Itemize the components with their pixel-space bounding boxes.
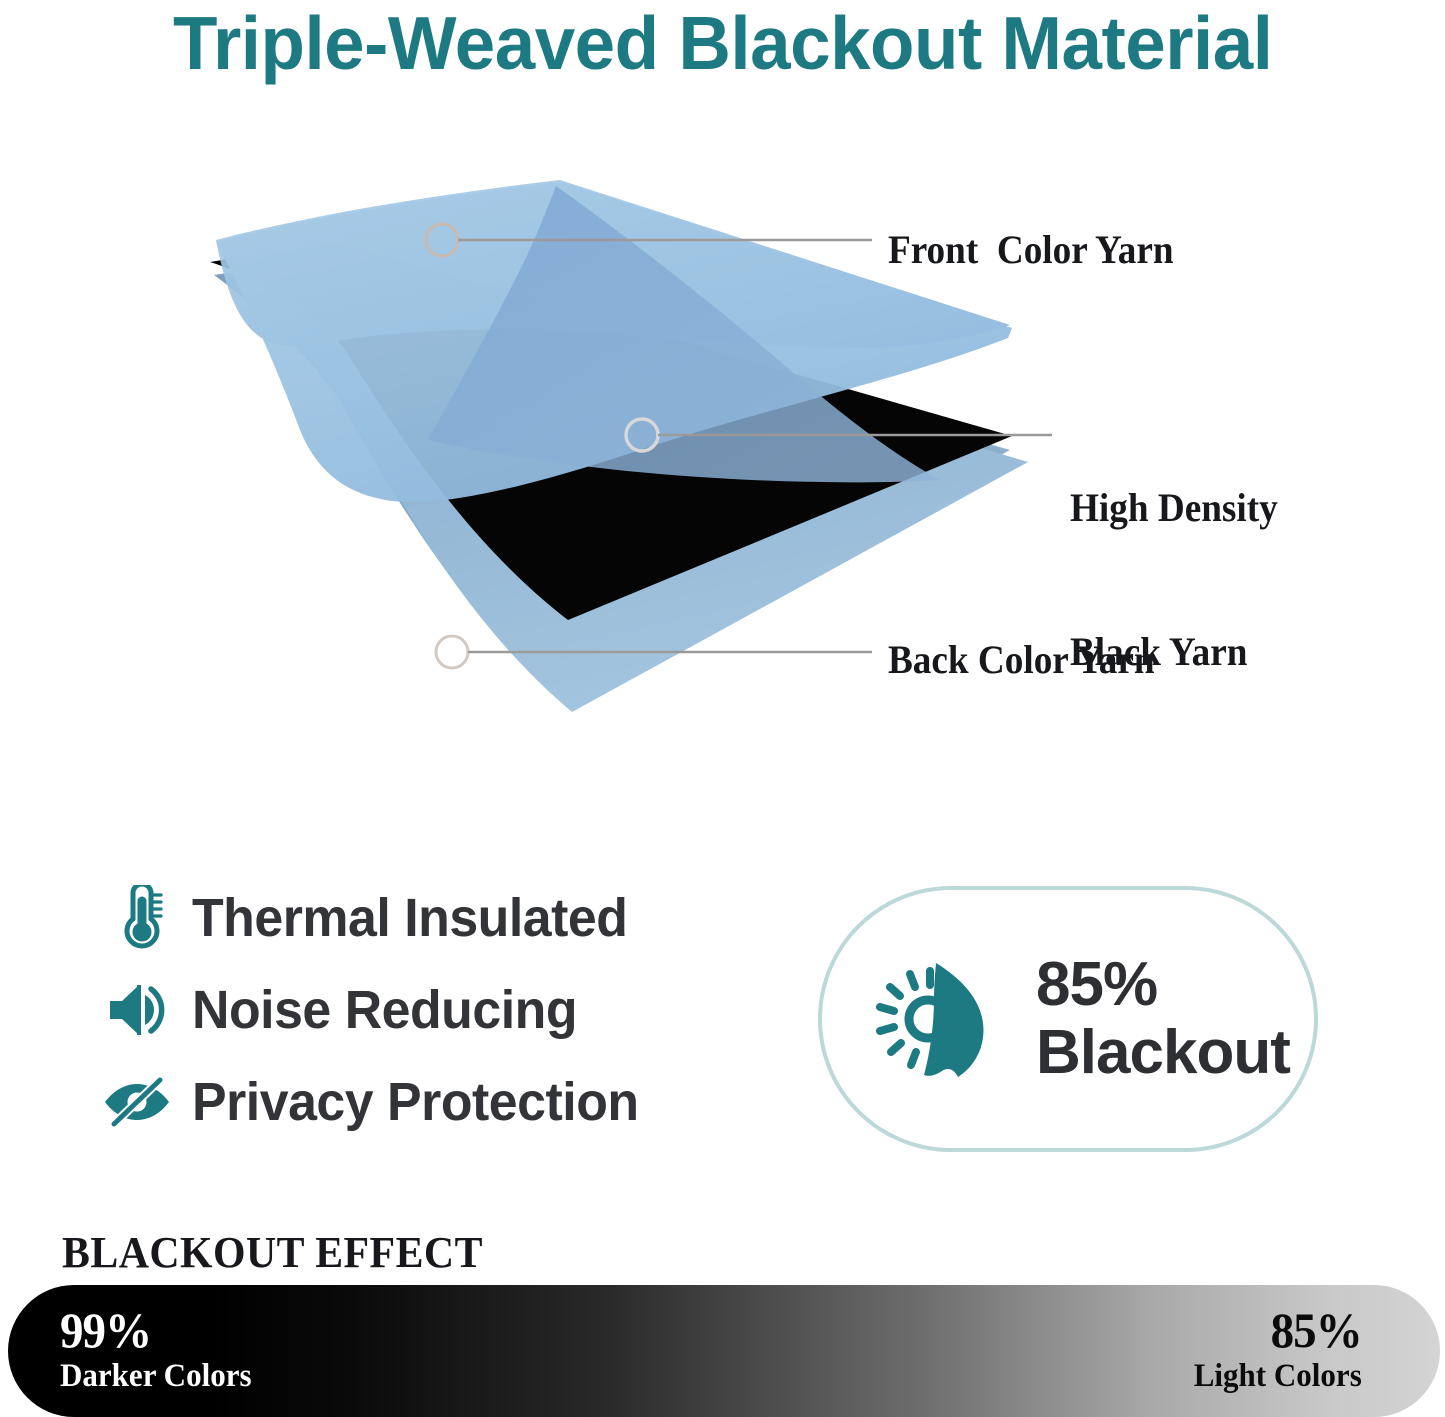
feature-label-noise-reducing: Noise Reducing (192, 981, 577, 1039)
speaker-sound-icon (100, 981, 174, 1039)
feature-label-thermal-insulated: Thermal Insulated (192, 889, 627, 947)
features-list: Thermal Insulated Noise Reducing Privacy… (100, 872, 740, 1148)
bar-stat-darker-caption: Darker Colors (60, 1357, 252, 1395)
callout-label-back-color-yarn: Back Color Yarn (888, 636, 1155, 684)
feature-item-privacy-protection: Privacy Protection (100, 1056, 740, 1148)
feature-item-thermal-insulated: Thermal Insulated (100, 872, 740, 964)
badge-text-block: 85% Blackout (1036, 951, 1290, 1087)
badge-percent-word: Blackout (1036, 1019, 1290, 1087)
callout-label-line-1: High Density (1070, 484, 1278, 532)
bar-stat-light-colors: 85% Light Colors (1194, 1303, 1362, 1395)
bar-stat-darker-colors: 99% Darker Colors (60, 1303, 252, 1395)
feature-item-noise-reducing: Noise Reducing (100, 964, 740, 1056)
page-title: Triple-Weaved Blackout Material (0, 0, 1445, 86)
feature-label-privacy-protection: Privacy Protection (192, 1073, 639, 1131)
blackout-effect-heading: BLACKOUT EFFECT (62, 1228, 483, 1278)
thermometer-icon (100, 885, 174, 951)
eye-slash-icon (100, 1074, 174, 1130)
bar-stat-light-caption: Light Colors (1194, 1357, 1362, 1395)
badge-percent-value: 85% (1036, 951, 1290, 1019)
bar-stat-darker-percent: 99% (60, 1303, 252, 1357)
status-badge-blackout-percentage: 85% Blackout (818, 886, 1318, 1152)
blackout-effect-gradient-bar: 99% Darker Colors 85% Light Colors (8, 1285, 1440, 1417)
page-title-text: Triple-Weaved Blackout Material (173, 3, 1272, 83)
sun-blocked-icon (866, 949, 1002, 1089)
callout-label-front-color-yarn: Front Color Yarn (888, 226, 1174, 274)
bar-stat-light-percent: 85% (1194, 1303, 1362, 1357)
